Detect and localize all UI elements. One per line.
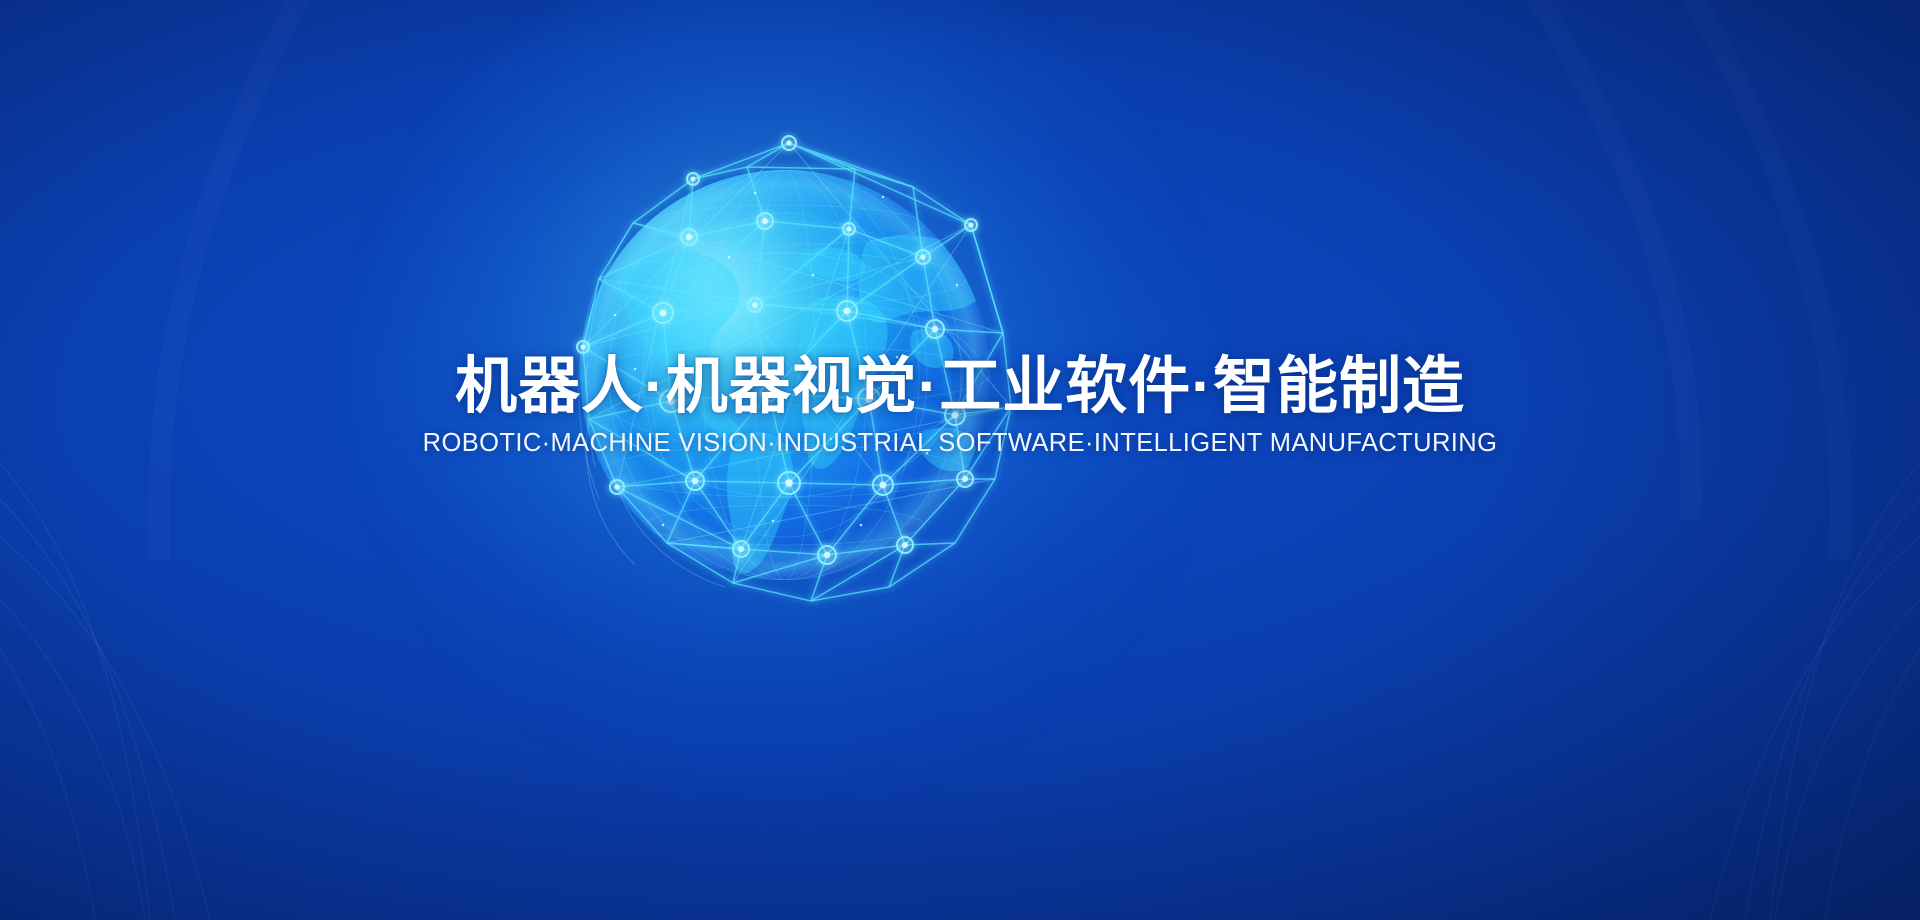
globe-wireframe-svg [485,75,1085,675]
hero-banner: 机器人·机器视觉·工业软件·智能制造 ROBOTIC·MACHINE VISIO… [0,0,1920,920]
